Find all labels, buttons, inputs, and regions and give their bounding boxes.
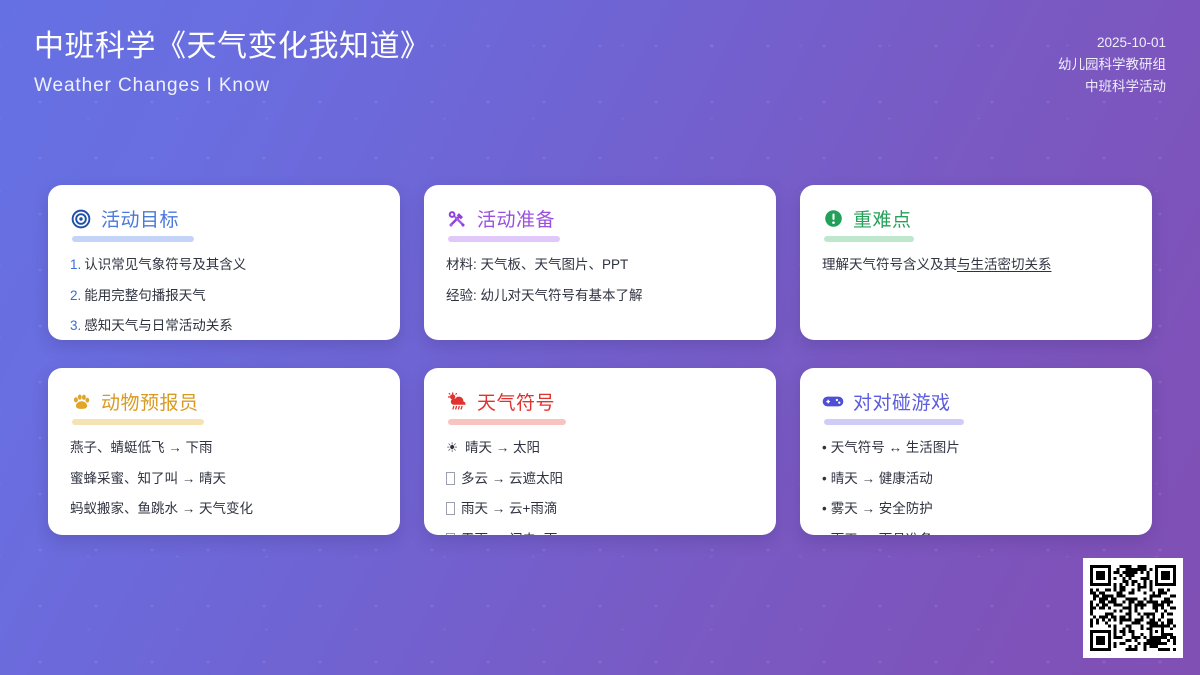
list-item: 1.认识常见气象符号及其含义 (70, 255, 378, 275)
list-item: 材料: 天气板、天气图片、PPT (446, 255, 754, 275)
weather-glyph-rain-missing (446, 502, 455, 515)
list-item: 雷雨 → 闪电+雨 (446, 530, 754, 535)
weather-glyph-thunder-missing (446, 533, 455, 535)
card-title-underline (824, 419, 964, 425)
card-matching-game[interactable]: 对对碰游戏 •天气符号 ↔ 生活图片 •晴天 → 健康活动 •雾天 → 安全防护… (800, 368, 1152, 535)
list-item-text: 认识常见气象符号及其含义 (84, 257, 246, 272)
meta-category: 中班科学活动 (1058, 76, 1166, 98)
card-title: 对对碰游戏 (853, 388, 951, 415)
target-icon (70, 208, 92, 230)
list-item-text: 雷雨 → 闪电+雨 (461, 532, 557, 535)
card-header: 活动目标 (70, 205, 378, 232)
list-item: 蜜蜂采蜜、知了叫 → 晴天 (70, 469, 378, 489)
card-body: 1.认识常见气象符号及其含义 2.能用完整句播报天气 3.感知天气与日常活动关系 (70, 255, 378, 336)
card-body: •天气符号 ↔ 生活图片 •晴天 → 健康活动 •雾天 → 安全防护 •雨天 →… (822, 438, 1130, 535)
list-item-text: 晴天 → 健康活动 (831, 471, 933, 486)
list-item-number: 2. (70, 288, 81, 303)
card-title: 天气符号 (477, 388, 555, 415)
list-item: 经验: 幼儿对天气符号有基本了解 (446, 286, 754, 306)
bullet-icon: • (822, 501, 827, 516)
meta-organization: 幼儿园科学教研组 (1058, 54, 1166, 76)
card-header: 动物预报员 (70, 388, 378, 415)
list-item: 雨天 → 云+雨滴 (446, 499, 754, 519)
list-item-text: 天气符号 ↔ 生活图片 (831, 440, 960, 455)
bullet-icon: • (822, 471, 827, 486)
card-title-underline (448, 236, 560, 242)
list-item-number: 1. (70, 257, 81, 272)
card-activity-goals[interactable]: 活动目标 1.认识常见气象符号及其含义 2.能用完整句播报天气 3.感知天气与日… (48, 185, 400, 340)
list-item-text: 理解天气符号含义及其 (822, 257, 957, 272)
list-item: 理解天气符号含义及其与生活密切关系 (822, 255, 1130, 275)
list-item: ☀晴天 → 太阳 (446, 438, 754, 458)
list-item: 蚂蚁搬家、鱼跳水 → 天气变化 (70, 499, 378, 519)
card-title: 活动准备 (477, 205, 555, 232)
slide-canvas: 中班科学《天气变化我知道》 Weather Changes I Know 202… (0, 0, 1200, 675)
tools-icon (446, 208, 468, 230)
list-item: •晴天 → 健康活动 (822, 469, 1130, 489)
list-item: 2.能用完整句播报天气 (70, 286, 378, 306)
sun-rain-cloud-icon (446, 391, 468, 413)
page-title-en: Weather Changes I Know (34, 75, 431, 98)
card-body: 理解天气符号含义及其与生活密切关系 (822, 255, 1130, 275)
list-item: •雨天 → 雨具准备 (822, 530, 1130, 535)
exclamation-circle-icon (822, 208, 844, 230)
list-item: 燕子、蜻蜓低飞 → 下雨 (70, 438, 378, 458)
title-block: 中班科学《天气变化我知道》 Weather Changes I Know (34, 28, 431, 97)
bullet-icon: • (822, 532, 827, 535)
list-item-text: 雾天 → 安全防护 (831, 501, 933, 516)
paw-print-icon (70, 391, 92, 413)
list-item: 多云 → 云遮太阳 (446, 469, 754, 489)
list-item: 3.感知天气与日常活动关系 (70, 316, 378, 336)
card-header: 活动准备 (446, 205, 754, 232)
card-title: 重难点 (853, 205, 912, 232)
page-title-cn: 中班科学《天气变化我知道》 (34, 28, 431, 66)
list-item: •天气符号 ↔ 生活图片 (822, 438, 1130, 458)
bullet-icon: • (822, 440, 827, 455)
card-title-underline (72, 419, 204, 425)
card-title: 活动目标 (101, 205, 179, 232)
slide-header: 中班科学《天气变化我知道》 Weather Changes I Know 202… (0, 0, 1200, 140)
meta-date: 2025-10-01 (1058, 32, 1166, 54)
card-body: ☀晴天 → 太阳 多云 → 云遮太阳 雨天 → 云+雨滴 雷雨 → 闪电+雨 (446, 438, 754, 535)
card-header: 重难点 (822, 205, 1130, 232)
card-title: 动物预报员 (101, 388, 199, 415)
card-animal-forecasters[interactable]: 动物预报员 燕子、蜻蜓低飞 → 下雨 蜜蜂采蜜、知了叫 → 晴天 蚂蚁搬家、鱼跳… (48, 368, 400, 535)
card-activity-preparation[interactable]: 活动准备 材料: 天气板、天气图片、PPT 经验: 幼儿对天气符号有基本了解 (424, 185, 776, 340)
list-item: •雾天 → 安全防护 (822, 499, 1130, 519)
header-meta: 2025-10-01 幼儿园科学教研组 中班科学活动 (1058, 32, 1166, 98)
list-item-number: 3. (70, 318, 81, 333)
list-item-text: 感知天气与日常活动关系 (84, 318, 233, 333)
list-item-text: 雨天 → 雨具准备 (831, 532, 933, 535)
qr-code-image (1090, 565, 1176, 651)
list-item-text: 雨天 → 云+雨滴 (461, 501, 557, 516)
weather-glyph-sunny: ☀ (446, 438, 461, 458)
card-header: 天气符号 (446, 388, 754, 415)
card-header: 对对碰游戏 (822, 388, 1130, 415)
list-item-text-emphasis: 与生活密切关系 (957, 257, 1052, 272)
list-item-text: 多云 → 云遮太阳 (461, 471, 563, 486)
weather-glyph-cloudy-missing (446, 472, 455, 485)
card-body: 燕子、蜻蜓低飞 → 下雨 蜜蜂采蜜、知了叫 → 晴天 蚂蚁搬家、鱼跳水 → 天气… (70, 438, 378, 519)
card-body: 材料: 天气板、天气图片、PPT 经验: 幼儿对天气符号有基本了解 (446, 255, 754, 305)
game-controller-icon (822, 391, 844, 413)
card-grid: 活动目标 1.认识常见气象符号及其含义 2.能用完整句播报天气 3.感知天气与日… (48, 185, 1152, 535)
card-title-underline (824, 236, 914, 242)
card-key-difficulties[interactable]: 重难点 理解天气符号含义及其与生活密切关系 (800, 185, 1152, 340)
qr-code[interactable] (1083, 558, 1183, 658)
list-item-text: 能用完整句播报天气 (84, 288, 206, 303)
card-title-underline (448, 419, 566, 425)
list-item-text: 晴天 → 太阳 (465, 440, 540, 455)
card-weather-symbols[interactable]: 天气符号 ☀晴天 → 太阳 多云 → 云遮太阳 雨天 → 云+雨滴 雷雨 → 闪… (424, 368, 776, 535)
card-title-underline (72, 236, 194, 242)
